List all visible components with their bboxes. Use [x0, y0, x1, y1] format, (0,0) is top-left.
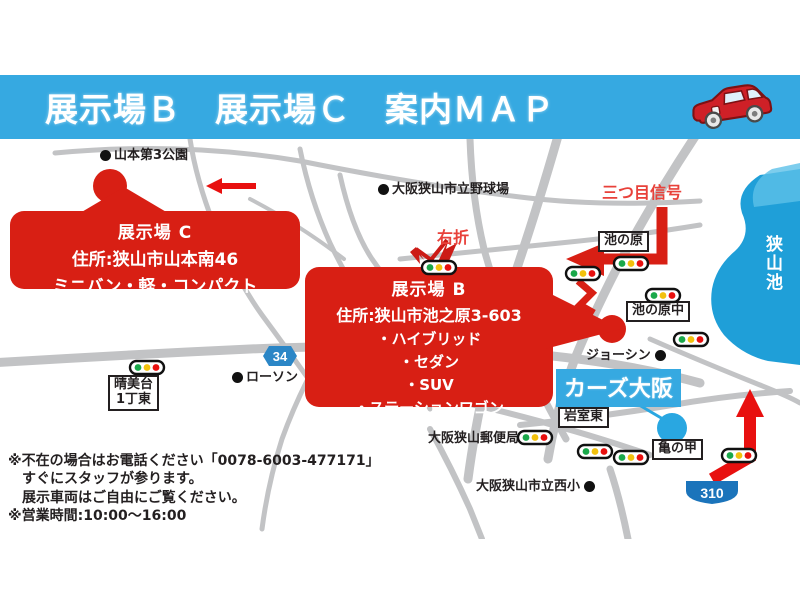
hall-c-vehicles: ミニバン・軽・コンパクト	[10, 272, 300, 297]
red-car-icon	[683, 83, 778, 131]
direction-turn-right: 右折	[437, 224, 469, 248]
hall-b-item-2: ・SUV	[305, 374, 553, 395]
route-34-shield: 34	[262, 345, 298, 367]
poi-yamamoto-park: 山本第3公園	[100, 144, 188, 163]
poi-post-office: 大阪狭山郵便局	[428, 427, 534, 446]
poi-baseball-stadium: 大阪狭山市立野球場	[378, 178, 509, 197]
hall-b-address: 住所:狭山市池之原3-603	[305, 302, 553, 326]
lake-label: 狭山池	[760, 235, 785, 292]
intersection-ikenohara: 池の原	[598, 231, 649, 252]
red-arrow-left-top	[206, 178, 256, 194]
shop-label[interactable]: カーズ大阪	[556, 369, 681, 407]
page-title: 展示場Ｂ 展示場Ｃ 案内ＭＡＰ	[45, 83, 555, 131]
poi-marker-dot	[100, 150, 111, 161]
note-line-3: 展示車両はご自由にご覧ください。	[8, 489, 380, 507]
poi-marker-dot	[584, 481, 595, 492]
route-34-number: 34	[273, 349, 288, 364]
poi-lawson: ローソン	[232, 366, 298, 385]
note-line-1: ※不在の場合はお電話ください「0078-6003-477171」	[8, 452, 380, 470]
note-line-2: すぐにスタッフが参ります。	[8, 470, 380, 488]
footer-notes: ※不在の場合はお電話ください「0078-6003-477171」 すぐにスタッフ…	[8, 452, 380, 526]
poi-joshin: ジョーシン	[586, 344, 666, 363]
hall-b-item-1: ・セダン	[305, 351, 553, 372]
intersection-kamenoko: 亀の甲	[652, 439, 703, 460]
hall-c-name: 展示場 C	[10, 211, 300, 243]
hall-b-item-0: ・ハイブリッド	[305, 328, 553, 349]
poi-marker-dot	[523, 433, 534, 444]
intersection-harumidai: 晴美台1丁東	[108, 375, 159, 411]
hall-c-callout-tail	[80, 187, 170, 213]
hall-c-address: 住所:狭山市山本南46	[10, 245, 300, 270]
direction-third-signal: 三つ目信号	[602, 179, 682, 203]
poi-marker-dot	[232, 372, 243, 383]
hall-b-callout[interactable]: 展示場 B 住所:狭山市池之原3-603 ・ハイブリッド ・セダン ・SUV ・…	[305, 267, 553, 407]
header-banner: 展示場Ｂ 展示場Ｃ 案内ＭＡＰ	[0, 75, 800, 139]
red-arrow-elbow-up	[712, 389, 764, 479]
intersection-ikenoharanaka: 池の原中	[626, 301, 690, 322]
route-310-shield: 310	[684, 479, 740, 505]
intersection-iwamurohigashi: 岩室東	[558, 407, 609, 428]
poi-marker-dot	[655, 350, 666, 361]
poi-marker-dot	[378, 184, 389, 195]
poi-nishi-elementary: 大阪狭山市立西小	[476, 475, 595, 494]
hall-b-name: 展示場 B	[305, 267, 553, 300]
hall-c-callout[interactable]: 展示場 C 住所:狭山市山本南46 ミニバン・軽・コンパクト	[10, 211, 300, 289]
hall-b-item-3: ・ステーションワゴン	[305, 397, 553, 418]
map-page: 展示場Ｂ 展示場Ｃ 案内ＭＡＰ	[0, 0, 800, 600]
route-310-number: 310	[700, 485, 724, 501]
note-line-4: ※営業時間:10:00～16:00	[8, 507, 380, 525]
